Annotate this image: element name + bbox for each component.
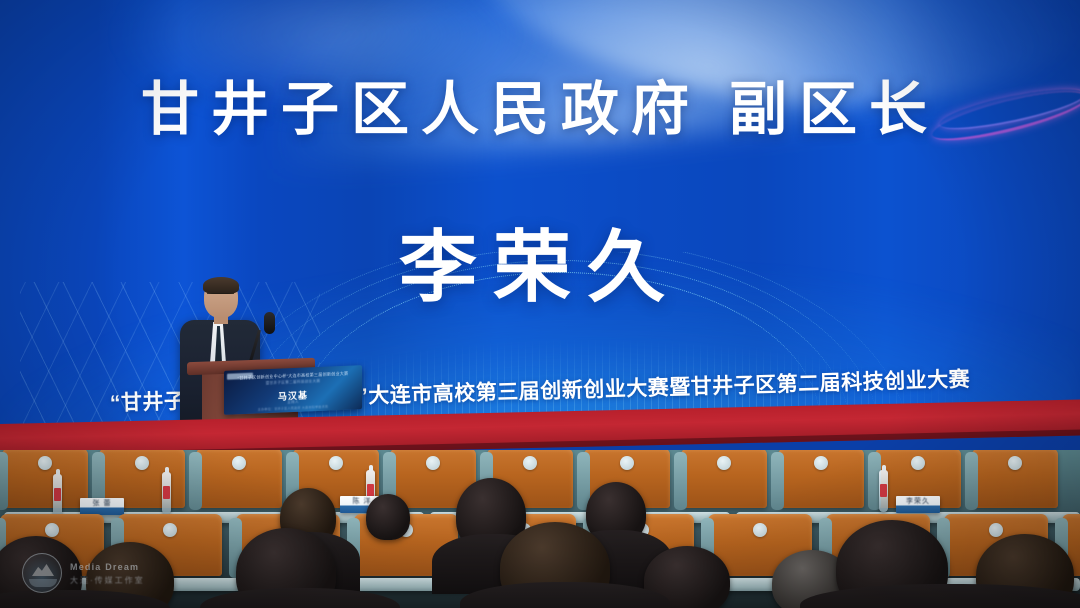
seat-number-icon [163, 523, 177, 537]
seat-number-icon [989, 523, 1003, 537]
speaker-glasses-icon [207, 293, 234, 299]
page-title: 甘井子区人民政府 副区长 [0, 62, 1080, 146]
seat-number-icon [717, 456, 731, 470]
led-screen: 甘井子区人民政府 副区长 李荣久 “甘井子区创新创业中心杯”大连市高校第三届创新… [0, 0, 1080, 432]
seat-number-icon [135, 456, 149, 470]
seat-number-icon [814, 456, 828, 470]
name-card-text: 张 蕾 [80, 499, 124, 508]
seat-number-icon [232, 456, 246, 470]
speaker-hair [203, 277, 239, 294]
seat-number-icon [620, 456, 634, 470]
water-bottle-icon [162, 472, 171, 514]
name-card: 张 蕾 [80, 498, 124, 515]
seat-number-icon [329, 456, 343, 470]
seat-number-icon [426, 456, 440, 470]
audience-head [366, 494, 410, 540]
speaker-name: 李荣久 [0, 205, 1080, 317]
name-card: 李荣久 [896, 496, 940, 513]
conference-photo: 甘井子区人民政府 副区长 李荣久 “甘井子区创新创业中心杯”大连市高校第三届创新… [0, 0, 1080, 608]
seat-number-icon [523, 456, 537, 470]
microphone-icon [246, 312, 286, 364]
watermark-logo-icon: Media Dream 大连·传媒工作室 [22, 551, 152, 599]
seat-number-icon [911, 456, 925, 470]
seat-number-icon [38, 456, 52, 470]
water-bottle-icon [53, 474, 62, 516]
seat-number-icon [45, 523, 59, 537]
watermark-chinese-text: 大连·传媒工作室 [70, 575, 145, 586]
auditorium: 张 蕾 陈 洋 李荣久 [0, 450, 1080, 608]
audience-shoulders [200, 588, 400, 608]
seat-number-icon [753, 523, 767, 537]
name-card-text: 李荣久 [896, 497, 940, 506]
podium-led-panel: “甘井子区创新创业中心杯”大连市高校第三届创新创业大赛 暨甘井子区第二届科技创业… [224, 365, 362, 415]
water-bottle-icon [879, 470, 888, 512]
seat-number-icon [1008, 456, 1022, 470]
watermark-english-text: Media Dream [70, 562, 139, 572]
